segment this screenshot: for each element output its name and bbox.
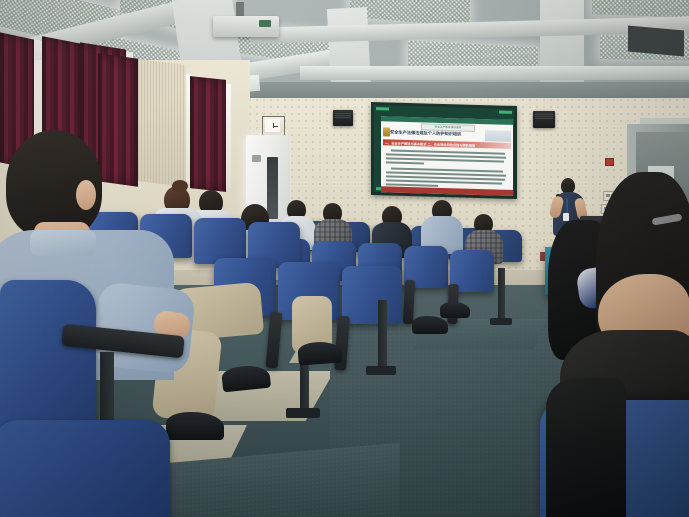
ceiling-beam xyxy=(300,66,689,80)
fire-alarm-icon[interactable] xyxy=(605,158,614,166)
foreground-attendee-collar xyxy=(30,230,96,256)
slide-body-line xyxy=(386,161,424,164)
screen-corner-marker xyxy=(376,107,389,110)
attendee-hair-bun xyxy=(172,180,188,192)
seat-foot xyxy=(490,318,512,325)
attendee-shoe xyxy=(297,340,342,365)
attendee-shoe xyxy=(412,316,448,334)
wall-speaker xyxy=(333,110,353,126)
screen-surface: 安全生产教育培训课件 安全生产法律法规及个人防护知识培训 一、安全生产概述与基本… xyxy=(374,105,514,196)
window-light-gap xyxy=(226,84,231,188)
ceiling-light-panel xyxy=(592,0,689,18)
screen-corner-marker xyxy=(499,111,512,114)
projection-screen: 安全生产教育培训课件 安全生产法律法规及个人防护知识培训 一、安全生产概述与基本… xyxy=(371,102,517,199)
clock-hand-minute xyxy=(273,126,278,127)
slide-title: 安全生产法律法规及个人防护知识培训 xyxy=(390,129,486,138)
seat[interactable] xyxy=(342,266,402,324)
foreground-attendee-leg xyxy=(546,378,626,517)
seat-foot xyxy=(286,408,320,418)
id-badge xyxy=(563,213,569,221)
seat[interactable] xyxy=(0,420,170,517)
ceiling-vent xyxy=(628,26,684,57)
ac-control-panel[interactable] xyxy=(252,155,261,162)
attendee-shoe xyxy=(166,412,224,440)
foreground-attendee-ear xyxy=(76,180,96,210)
slide-logo-icon xyxy=(383,127,390,136)
slide-decorative-image xyxy=(485,130,511,142)
seat-foot xyxy=(366,366,396,375)
attendee-shoe xyxy=(440,302,470,318)
acoustic-wall-panel xyxy=(138,59,186,187)
wall-speaker xyxy=(533,111,555,128)
slide-footer-bar xyxy=(381,186,513,196)
window-curtain xyxy=(98,53,138,187)
ac-air-grille xyxy=(267,157,278,219)
window-curtain xyxy=(190,76,226,192)
clock-face xyxy=(265,119,280,132)
seat-leg xyxy=(498,268,505,322)
auditorium-photo: 安全生产教育培训课件 安全生产法律法规及个人防护知识培训 一、安全生产概述与基本… xyxy=(0,0,689,517)
lanyard xyxy=(566,198,568,214)
wall-clock xyxy=(262,116,285,137)
presentation-slide: 安全生产教育培训课件 安全生产法律法规及个人防护知识培训 一、安全生产概述与基本… xyxy=(381,116,513,196)
slide-header-tag-text: 安全生产教育培训课件 xyxy=(422,124,474,129)
seat-leg xyxy=(378,300,387,372)
seat[interactable] xyxy=(0,280,96,440)
ceiling-projector xyxy=(213,16,279,37)
